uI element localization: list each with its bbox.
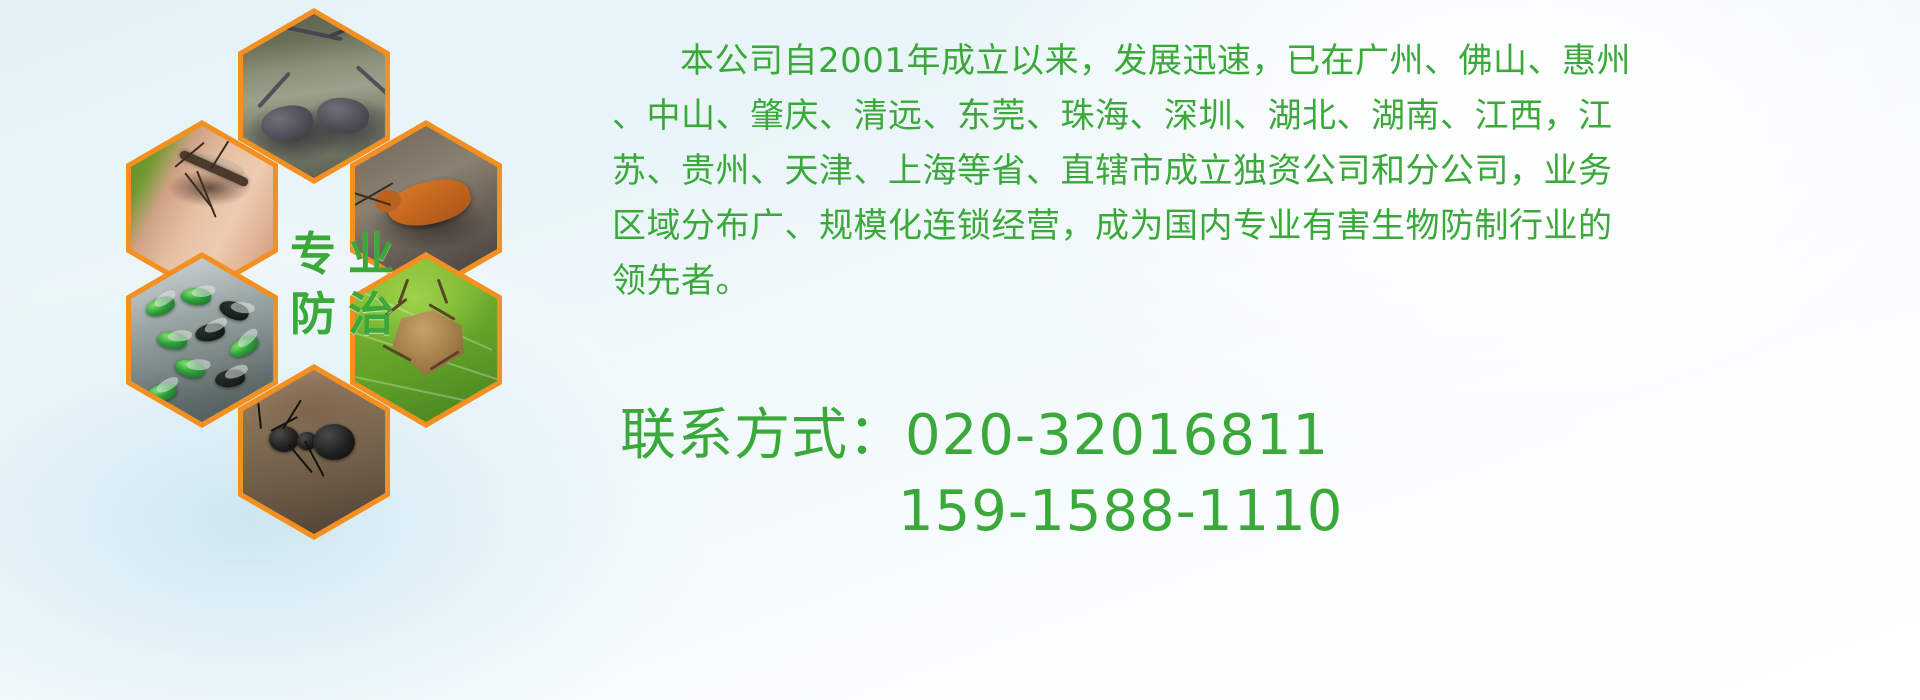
honeycomb-photo-cluster: 专业 防治: [86, 8, 586, 568]
contact-block: 联系方式：020-32016811 159-1588-1110: [620, 398, 1820, 550]
contact-primary-row: 联系方式：020-32016811: [620, 398, 1820, 474]
hex-photo-rats-image: [243, 14, 385, 178]
contact-label: 联系方式：: [620, 403, 905, 468]
description-line: 苏、贵州、天津、上海等省、直辖市成立独资公司和分公司，业务: [612, 144, 1862, 199]
contact-secondary-row: 159-1588-1110: [620, 474, 1820, 550]
description-line: 、中山、肇庆、清远、东莞、珠海、深圳、湖北、湖南、江西，江: [612, 89, 1862, 144]
contact-landline[interactable]: 020-32016811: [905, 403, 1329, 468]
description-line: 区域分布广、规模化连锁经营，成为国内专业有害生物防制行业的: [612, 199, 1862, 254]
company-description: 本公司自2001年成立以来，发展迅速，已在广州、佛山、惠州 、中山、肇庆、清远、…: [612, 34, 1862, 309]
description-line: 领先者。: [612, 254, 1862, 309]
hex-photo-flies-image: [131, 258, 273, 422]
hex-photo-ant-image: [243, 370, 385, 534]
description-line: 本公司自2001年成立以来，发展迅速，已在广州、佛山、惠州: [612, 34, 1862, 89]
badge-label: 专业 防治: [258, 194, 426, 374]
contact-mobile[interactable]: 159-1588-1110: [898, 479, 1343, 544]
badge-line-1: 专业: [278, 231, 406, 277]
badge-line-2: 防治: [278, 291, 406, 337]
banner-root: 专业 防治 本公司自2001年成立以来，发展迅速，已在广州、佛山、惠州 、中山、…: [0, 0, 1920, 700]
